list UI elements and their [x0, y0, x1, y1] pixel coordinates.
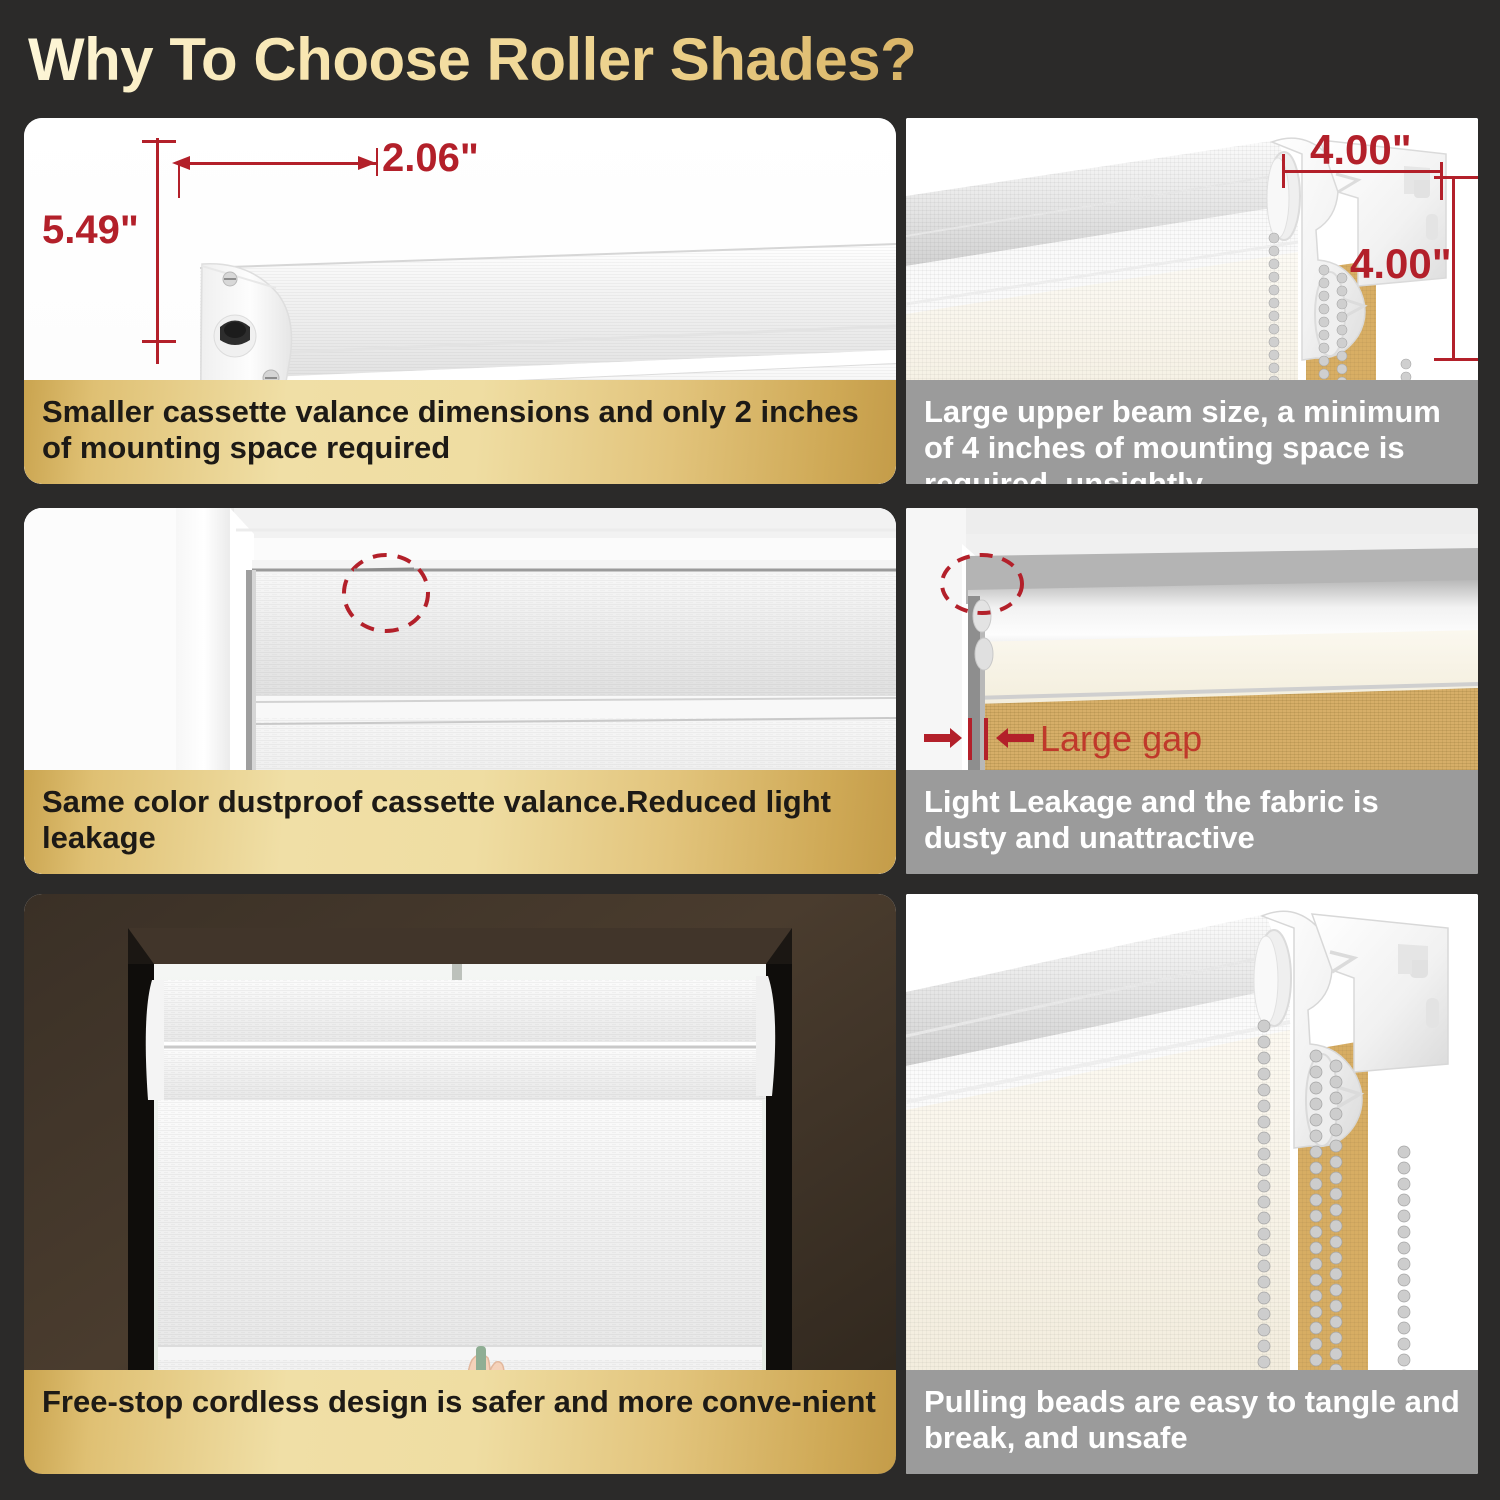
caption-bottom-left: Free-stop cordless design is safer and m… [24, 1370, 896, 1474]
dimension-label-width: 4.00" [1310, 126, 1412, 174]
caption-top-right: Large upper beam size, a minimum of 4 in… [906, 380, 1478, 484]
panel-bottom-right: Pulling beads are easy to tangle and bre… [906, 894, 1478, 1474]
page-title: Why To Choose Roller Shades? [28, 20, 1228, 100]
panel-middle-left: smaller gap Same color dustproof cassett… [24, 508, 896, 874]
panel-top-left: 2.06" 5.49" Smaller cassette valance dim… [24, 118, 896, 484]
caption-top-left: Smaller cassette valance dimensions and … [24, 380, 896, 484]
dimension-label-height: 4.00" [1350, 240, 1452, 288]
caption-bottom-right: Pulling beads are easy to tangle and bre… [906, 1370, 1478, 1474]
panel-middle-right: Large gap Light Leakage and the fabric i… [906, 508, 1478, 874]
caption-middle-left: Same color dustproof cassette valance.Re… [24, 770, 896, 874]
annotation-large-gap: Large gap [1040, 718, 1202, 760]
dimension-label-height: 5.49" [42, 208, 139, 253]
caption-middle-right: Light Leakage and the fabric is dusty an… [906, 770, 1478, 874]
panel-bottom-left: Free-stop cordless design is safer and m… [24, 894, 896, 1474]
dimension-label-width: 2.06" [382, 136, 479, 181]
panel-top-right: 4.00" 4.00" Large upper beam size, a min… [906, 118, 1478, 484]
infographic-root: Why To Choose Roller Shades? [0, 0, 1500, 1500]
